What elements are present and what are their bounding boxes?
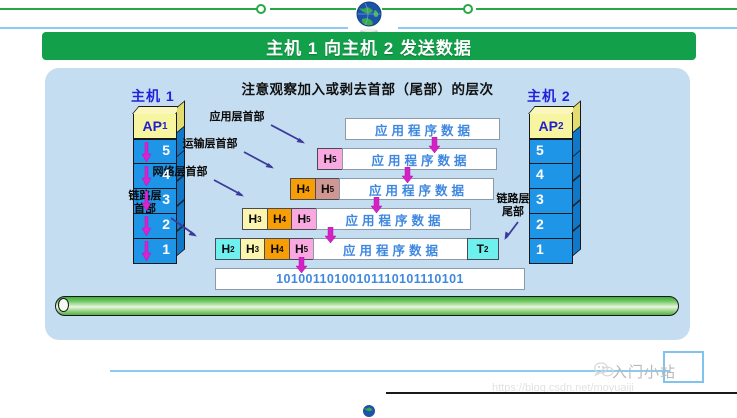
header-subscript: 4	[305, 185, 309, 194]
diagram-panel: 注意观察加入或剥去首部（尾部）的层次 主机 1 主机 2 AP1 5 4	[45, 68, 690, 340]
cable-end-cap	[58, 298, 69, 312]
header-h2: H2	[215, 238, 241, 260]
ap-subscript: 1	[162, 121, 168, 132]
header-subscript: 2	[230, 245, 234, 254]
header-h3: H3	[240, 238, 266, 260]
network-layer-header-arrow	[212, 178, 252, 202]
encapsulation-flow-arrow	[295, 257, 308, 273]
transport-layer-header-label: 运输层首部	[173, 138, 247, 151]
host-1-label: 主机 1	[131, 86, 175, 106]
trailer-letter: T	[477, 242, 484, 256]
app-layer-header-arrow	[269, 123, 313, 149]
encapsulation-flow-arrow	[324, 227, 337, 243]
host-2-layer-1: 1	[529, 239, 573, 264]
ap-text: AP	[142, 118, 161, 134]
payload-cell: 应用程序数据	[339, 178, 494, 200]
header-letter: H	[246, 242, 255, 256]
trailer-t2: T2	[467, 238, 499, 260]
encapsulation-flow-arrow	[370, 197, 383, 213]
encapsulation-flow-arrow	[401, 167, 414, 183]
header-subscript: 3	[255, 245, 259, 254]
host-1-ap-label: AP1	[134, 114, 176, 138]
header-h4: H4	[267, 208, 293, 230]
page-title: 主机 1 向主机 2 发送数据	[266, 34, 472, 59]
top-decoration	[0, 0, 737, 30]
host-1-layer-5: 5	[133, 139, 177, 164]
header-letter: H	[321, 182, 330, 196]
layer-number: 4	[536, 166, 544, 182]
bottom-blue-divider	[110, 370, 670, 372]
ap-text: AP	[538, 118, 557, 134]
host-2-label: 主机 2	[527, 86, 571, 106]
host-2-ap-box: AP2	[529, 113, 573, 139]
host-2-layer-2: 2	[529, 214, 573, 239]
host-2-ap-label: AP2	[530, 114, 572, 138]
header-letter: H	[295, 242, 304, 256]
header-subscript: 4	[279, 245, 283, 254]
layer-side-face	[573, 224, 581, 256]
header-letter: H	[248, 212, 257, 226]
ap-box-top-face	[132, 106, 183, 114]
slide-title-bar: 主机 1 向主机 2 发送数据	[42, 32, 696, 60]
header-subscript: 3	[257, 215, 261, 224]
bottom-globe-icon	[362, 404, 376, 418]
watermark-brand: 入门小站	[612, 361, 676, 382]
layer-number: 2	[162, 216, 170, 232]
layer-number: 4	[162, 166, 170, 182]
layer-number: 1	[536, 241, 544, 257]
host-2-layer-5: 5	[529, 139, 573, 164]
bitstream-row: 10100110100101110101110101	[215, 268, 525, 290]
transport-layer-header-arrow	[242, 150, 282, 174]
layer-number: 2	[536, 216, 544, 232]
decor-line-left	[0, 8, 262, 10]
decor-blue-line-right	[398, 27, 737, 29]
down-arrow-icon	[141, 191, 152, 211]
pdu-row-physical-frame: H2 H3 H4 H5 应用程序数据 T2	[215, 238, 499, 260]
host-1-ap-box: AP1	[133, 113, 177, 139]
host-2-layer-4: 4	[529, 164, 573, 189]
host-2-protocol-stack: AP2 5 4 3 2 1	[527, 113, 573, 264]
pdu-row-application: 应用程序数据	[345, 118, 500, 140]
header-letter: H	[270, 242, 279, 256]
header-subscript: 4	[282, 215, 286, 224]
header-letter: H	[296, 182, 305, 196]
layer-number: 1	[162, 241, 170, 257]
header-h5: H5	[315, 178, 341, 200]
app-layer-header-label: 应用层首部	[200, 111, 274, 124]
layer-number: 3	[162, 191, 170, 207]
down-arrow-icon	[141, 166, 152, 186]
header-subscript: 5	[330, 185, 334, 194]
down-arrow-icon	[141, 142, 152, 162]
ap-box-top-face	[528, 106, 579, 114]
header-h3: H3	[242, 208, 268, 230]
header-letter: H	[221, 242, 230, 256]
header-letter: H	[297, 212, 306, 226]
header-h4: H4	[290, 178, 316, 200]
network-cable	[55, 296, 679, 316]
header-subscript: 5	[304, 245, 308, 254]
layer-number: 5	[536, 142, 544, 158]
encapsulation-flow-arrow	[428, 137, 441, 153]
decor-blue-line-left	[0, 27, 348, 29]
header-h5: H5	[317, 148, 343, 170]
wechat-icon	[594, 362, 614, 378]
pdu-row-link: H3 H4 H5 应用程序数据	[242, 208, 471, 230]
header-letter: H	[273, 212, 282, 226]
host-1-layer-1: 1	[133, 239, 177, 264]
down-arrow-icon	[141, 216, 152, 236]
payload-cell: 应用程序数据	[345, 118, 500, 140]
globe-icon	[352, 0, 386, 34]
header-h4: H4	[264, 238, 290, 260]
decor-ring-left	[256, 4, 266, 14]
header-subscript: 5	[332, 155, 336, 164]
header-h5: H5	[291, 208, 317, 230]
header-letter: H	[323, 152, 332, 166]
layer-number: 3	[536, 191, 544, 207]
decor-line-right	[476, 8, 737, 10]
link-layer-header-arrow	[169, 216, 207, 242]
link-layer-trailer-arrow	[500, 220, 530, 246]
header-subscript: 5	[306, 215, 310, 224]
decor-ring-right	[463, 4, 473, 14]
pdu-row-network: H4 H5 应用程序数据	[290, 178, 494, 200]
down-arrow-icon	[141, 241, 152, 261]
decor-line-mid-left	[270, 8, 356, 10]
bottom-black-divider	[386, 392, 737, 394]
layer-number: 5	[162, 142, 170, 158]
network-layer-header-label: 网络层首部	[143, 166, 217, 179]
ap-subscript: 2	[558, 121, 564, 132]
payload-cell: 应用程序数据	[316, 208, 471, 230]
decor-line-mid-right	[382, 8, 468, 10]
trailer-subscript: 2	[484, 245, 488, 254]
payload-cell: 应用程序数据	[342, 148, 497, 170]
